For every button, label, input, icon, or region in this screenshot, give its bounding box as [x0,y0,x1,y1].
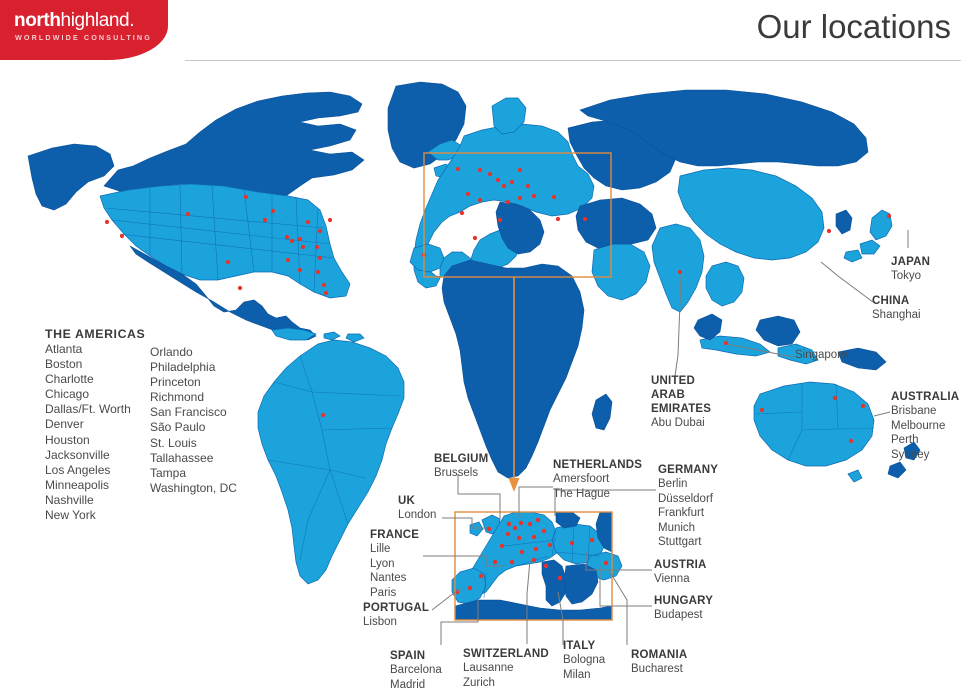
europe-zoom-arrowhead [509,478,520,492]
label-city-name: Milan [563,668,605,683]
americas-city: Tampa [150,466,237,481]
region-southeast-asia [706,262,744,306]
region-middle-east [576,198,656,248]
label-country-name: FRANCE [370,528,419,542]
label-china: CHINAShanghai [872,294,921,323]
label-city-name: Berlin [658,477,718,492]
brand-logo-banner: northhighland. WORLDWIDE CONSULTING [0,0,168,60]
label-city-name: Lille [370,542,419,557]
label-belgium: BELGIUMBrussels [434,452,488,481]
label-country-name: PORTUGAL [363,601,429,615]
label-city-name: Madrid [390,678,442,693]
americas-city: Charlotte [45,372,131,387]
label-singapore: Singapore [795,348,847,363]
americas-city: Orlando [150,345,237,360]
label-country-name: SPAIN [390,649,442,663]
label-city-name: Bologna [563,653,605,668]
americas-city: Houston [45,433,131,448]
americas-city: Washington, DC [150,481,237,496]
label-city-name: Nantes [370,571,419,586]
americas-city: Minneapolis [45,478,131,493]
label-city-name: Singapore [795,348,847,363]
americas-city: Princeton [150,375,237,390]
brand-logo-text: northhighland. [14,10,134,32]
label-city-name: Zurich [463,676,549,691]
label-city-name: Barcelona [390,663,442,678]
island-tasmania [848,470,862,482]
logo-word-north: north [14,10,61,31]
label-country-name: ITALY [563,639,605,653]
label-city-name: Brisbane [891,404,959,419]
americas-city: Boston [45,357,131,372]
label-country-name: ROMANIA [631,648,687,662]
americas-city: St. Louis [150,436,237,451]
label-city-name: Paris [370,586,419,601]
label-city-name: Abu Dubai [651,416,711,431]
label-country-name: UK [398,494,436,508]
americas-heading: THE AMERICAS [45,327,145,341]
country-canada [104,92,364,200]
americas-city: Atlanta [45,342,131,357]
country-india [652,224,704,312]
label-germany: GERMANYBerlinDüsseldorfFrankfurtMunichSt… [658,463,718,550]
label-city-name: Budapest [654,608,713,623]
label-country-name: CHINA [872,294,921,308]
label-country-name: GERMANY [658,463,718,477]
label-france: FRANCELilleLyonNantesParis [370,528,419,600]
label-country-name: UNITED ARAB EMIRATES [651,374,711,416]
label-hungary: HUNGARYBudapest [654,594,713,623]
logo-word-highland: highland. [61,10,135,31]
americas-city: Denver [45,417,131,432]
label-italy: ITALYBolognaMilan [563,639,605,682]
americas-city: Philadelphia [150,360,237,375]
americas-city: Tallahassee [150,451,237,466]
label-romania: ROMANIABucharest [631,648,687,677]
island-madagascar [592,394,612,430]
label-city-name: The Hague [553,487,642,502]
korea-peninsula [836,210,852,234]
label-portugal: PORTUGALLisbon [363,601,429,630]
label-australia: AUSTRALIABrisbaneMelbournePerthSydney [891,390,959,462]
americas-city: San Francisco [150,405,237,420]
label-city-name: Frankfurt [658,506,718,521]
label-spain: SPAINBarcelonaMadrid [390,649,442,692]
label-switzerland: SWITZERLANDLausanneZurich [463,647,549,690]
label-country-name: AUSTRIA [654,558,707,572]
label-city-name: Perth [891,433,959,448]
label-netherlands: NETHERLANDSAmersfoortThe Hague [553,458,642,501]
country-usa [100,184,350,298]
label-japan: JAPANTokyo [891,255,930,284]
americas-city: New York [45,508,131,523]
label-city-name: Sydney [891,448,959,463]
label-country-name: AUSTRALIA [891,390,959,404]
label-city-name: Amersfoort [553,472,642,487]
slide-canvas: .lt{fill:#1ca3dc;stroke:#0d6cb4;stroke-w… [0,0,961,699]
label-city-name: Stuttgart [658,535,718,550]
label-city-name: Shanghai [872,308,921,323]
label-city-name: Vienna [654,572,707,587]
leader-australia [874,412,890,416]
americas-city: Jacksonville [45,448,131,463]
label-country-name: HUNGARY [654,594,713,608]
island-borneo [756,316,800,346]
label-city-name: Munich [658,521,718,536]
label-city-name: Lisbon [363,615,429,630]
region-arabia [592,244,650,300]
label-country-name: NETHERLANDS [553,458,642,472]
label-uk: UKLondon [398,494,436,523]
label-city-name: Lausanne [463,661,549,676]
label-city-name: Düsseldorf [658,492,718,507]
americas-city: São Paulo [150,420,237,435]
label-city-name: Brussels [434,466,488,481]
label-uae: UNITED ARAB EMIRATESAbu Dubai [651,374,711,431]
continent-africa [442,260,584,478]
americas-column-1: AtlantaBostonCharlotteChicagoDallas/Ft. … [45,342,131,523]
page-title: Our locations [757,8,951,46]
americas-city: Nashville [45,493,131,508]
label-city-name: Melbourne [891,419,959,434]
brand-tagline: WORLDWIDE CONSULTING [15,33,152,42]
label-austria: AUSTRIAVienna [654,558,707,587]
header-divider [185,60,961,61]
label-city-name: Lyon [370,557,419,572]
label-country-name: SWITZERLAND [463,647,549,661]
americas-city: Richmond [150,390,237,405]
label-city-name: London [398,508,436,523]
leader-china [821,262,873,302]
country-australia [754,382,874,466]
label-city-name: Tokyo [891,269,930,284]
label-country-name: JAPAN [891,255,930,269]
americas-city: Chicago [45,387,131,402]
label-city-name: Bucharest [631,662,687,677]
label-country-name: BELGIUM [434,452,488,466]
americas-city: Los Angeles [45,463,131,478]
americas-column-2: OrlandoPhiladelphiaPrincetonRichmondSan … [150,345,237,496]
americas-city: Dallas/Ft. Worth [45,402,131,417]
